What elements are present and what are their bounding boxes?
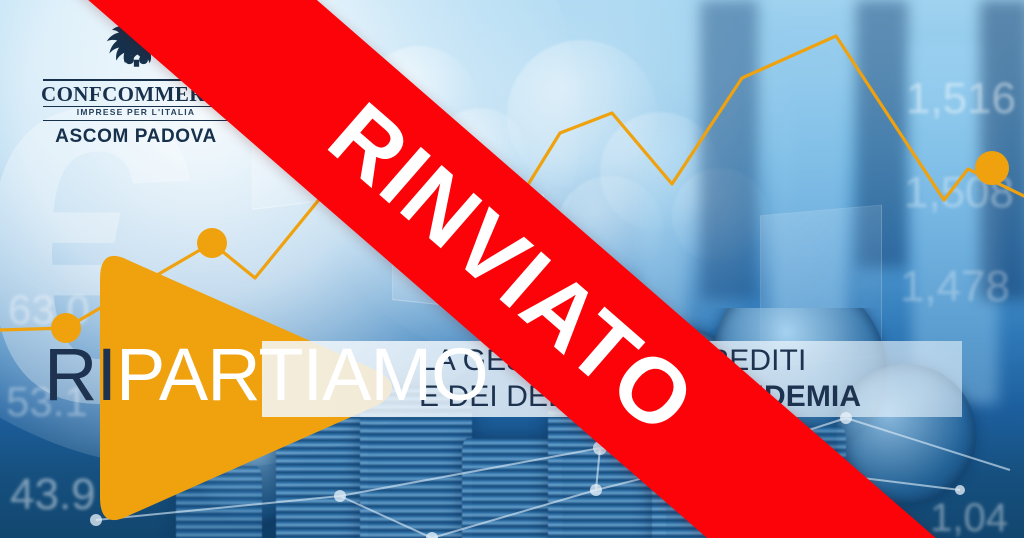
event-poster: € 1,516 1,508 1,478 1,04 63.0 53.1 43.9 [0, 0, 1024, 538]
event-title: RI PARTIAMO [44, 338, 488, 412]
title-highlight: PARTIAMO [116, 338, 488, 412]
logo-city-name: ASCOM PADOVA [41, 121, 231, 148]
title-prefix: RI [44, 338, 116, 412]
logo-tagline: IMPRESE PER L'ITALIA [41, 107, 231, 120]
